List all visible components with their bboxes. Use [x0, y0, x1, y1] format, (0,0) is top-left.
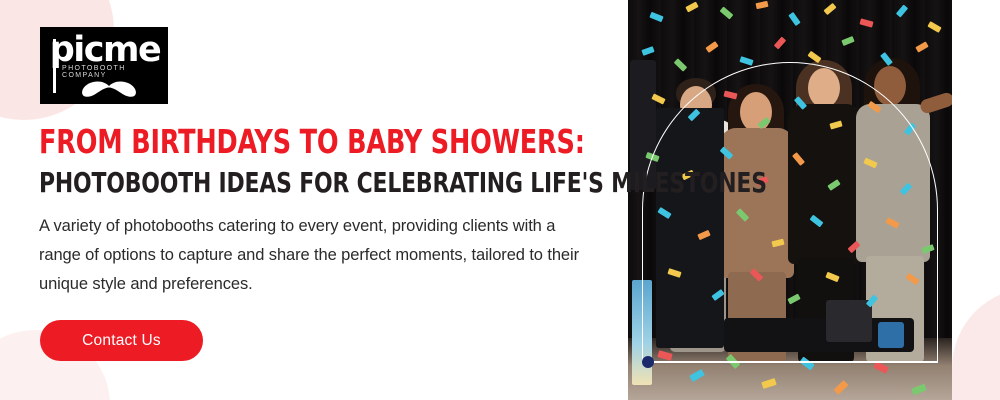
hero-banner: picme PHOTOBOOTH COMPANY FROM BIRTHDAYS …	[0, 0, 1000, 400]
mustache-icon	[81, 81, 137, 98]
hero-headline-primary: FROM BIRTHDAYS TO BABY SHOWERS:	[39, 124, 585, 160]
hero-body-text: A variety of photobooths catering to eve…	[39, 212, 579, 299]
photo-arch-outline	[642, 62, 938, 362]
photo-arch-anchor-dot	[642, 356, 654, 368]
logo-word-text: picme	[50, 30, 161, 70]
lens-dot-icon	[61, 47, 66, 52]
logo-wordmark: picme	[50, 34, 161, 66]
brand-logo[interactable]: picme PHOTOBOOTH COMPANY	[40, 27, 168, 104]
hero-photo	[628, 0, 952, 400]
contact-us-button[interactable]: Contact Us	[40, 320, 203, 361]
photo-arch-baseline	[642, 361, 938, 363]
hero-content-panel: picme PHOTOBOOTH COMPANY FROM BIRTHDAYS …	[0, 0, 628, 400]
decorative-blob-bottom-right	[952, 288, 1000, 400]
hero-headline-secondary: PHOTOBOOTH IDEAS FOR CELEBRATING LIFE'S …	[39, 167, 767, 198]
flagpole-icon	[53, 39, 56, 93]
